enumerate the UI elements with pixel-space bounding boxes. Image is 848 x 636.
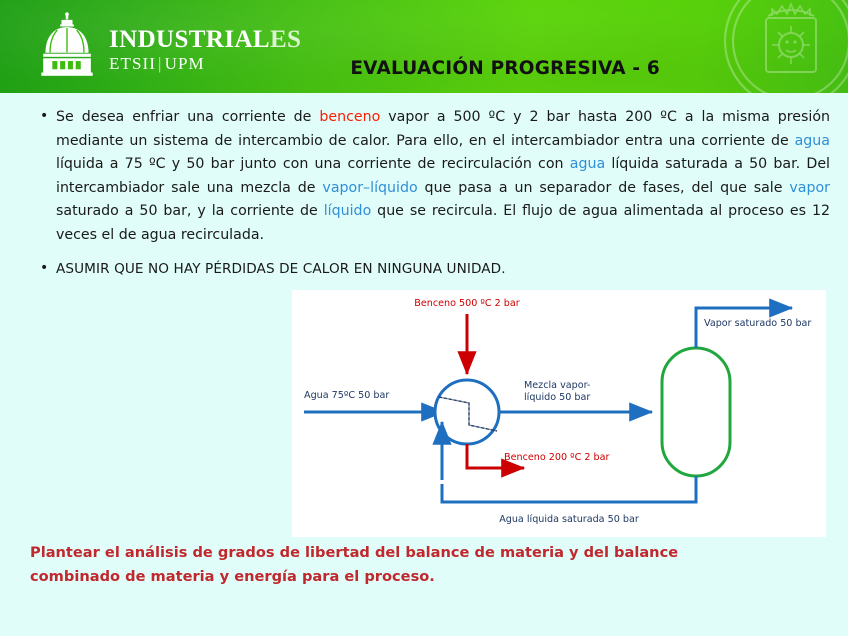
text-segment: que pasa a un separador de fases, del qu… xyxy=(418,180,790,196)
text-segment: líquida a 75 ºC y 50 bar junto con una c… xyxy=(56,156,570,172)
label-mezcla-line1: Mezcla vapor- xyxy=(524,380,590,391)
logo-title: INDUSTRIALES xyxy=(109,27,301,52)
logo-subtitle-separator: | xyxy=(156,54,165,73)
text-segment: saturado a 50 bar, y la corriente de xyxy=(56,203,324,219)
label-agua-inlet: Agua 75ºC 50 bar xyxy=(304,390,389,401)
slide-content: Se desea enfriar una corriente de bencen… xyxy=(0,93,848,279)
label-benceno-outlet: Benceno 200 ºC 2 bar xyxy=(504,452,609,463)
dome-building-icon xyxy=(34,12,100,78)
slide-header: UNIVERSIDAD xyxy=(0,0,848,93)
label-recirculacion: Agua líquida saturada 50 bar xyxy=(499,513,639,525)
upm-seal-watermark: UNIVERSIDAD xyxy=(716,0,848,93)
logo-subtitle: ETSII|UPM xyxy=(109,54,301,74)
page-title: EVALUACIÓN PROGRESIVA - 6 xyxy=(350,58,660,79)
list-item-problem-statement: Se desea enfriar una corriente de bencen… xyxy=(34,106,830,248)
highlight-agua-2: agua xyxy=(570,156,605,172)
slide: UNIVERSIDAD xyxy=(0,0,848,636)
highlight-agua-1: agua xyxy=(795,133,830,149)
logo-title-strong: INDUSTRIAL xyxy=(109,26,270,53)
highlight-vapor: vapor xyxy=(789,180,830,196)
highlight-vapor-liquido: vapor–líquido xyxy=(322,180,417,196)
logo-wordmark: INDUSTRIALES ETSII|UPM xyxy=(109,27,301,78)
etsii-upm-logo: INDUSTRIALES ETSII|UPM xyxy=(34,12,301,78)
task-instruction: Plantear el análisis de grados de libert… xyxy=(30,541,770,589)
highlight-benceno: benceno xyxy=(319,109,380,125)
highlight-liquido: líquido xyxy=(324,203,372,219)
bullet-list: Se desea enfriar una corriente de bencen… xyxy=(0,106,848,279)
text-segment: Se desea enfriar una corriente de xyxy=(56,109,319,125)
process-flow-diagram: Benceno 500 ºC 2 bar Agua 75ºC 50 bar Be… xyxy=(292,290,826,537)
logo-subtitle-etsii: ETSII xyxy=(109,54,156,73)
heat-exchanger-shell xyxy=(435,380,499,444)
logo-subtitle-upm: UPM xyxy=(165,54,205,73)
list-item-assumption: ASUMIR QUE NO HAY PÉRDIDAS DE CALOR EN N… xyxy=(34,259,830,279)
heat-exchanger-unit xyxy=(435,380,499,444)
flash-separator-vessel xyxy=(662,348,730,476)
label-mezcla-line2: líquido 50 bar xyxy=(524,391,590,403)
task-instruction-line2: combinado de materia y energía para el p… xyxy=(30,565,770,589)
task-instruction-line1: Plantear el análisis de grados de libert… xyxy=(30,541,770,565)
label-benceno-inlet: Benceno 500 ºC 2 bar xyxy=(414,298,519,309)
stream-liquid-recirculation xyxy=(442,476,696,502)
logo-title-dim: ES xyxy=(270,26,301,53)
pfd-svg: Benceno 500 ºC 2 bar Agua 75ºC 50 bar Be… xyxy=(292,290,826,537)
label-vapor-outlet: Vapor saturado 50 bar xyxy=(704,318,811,329)
